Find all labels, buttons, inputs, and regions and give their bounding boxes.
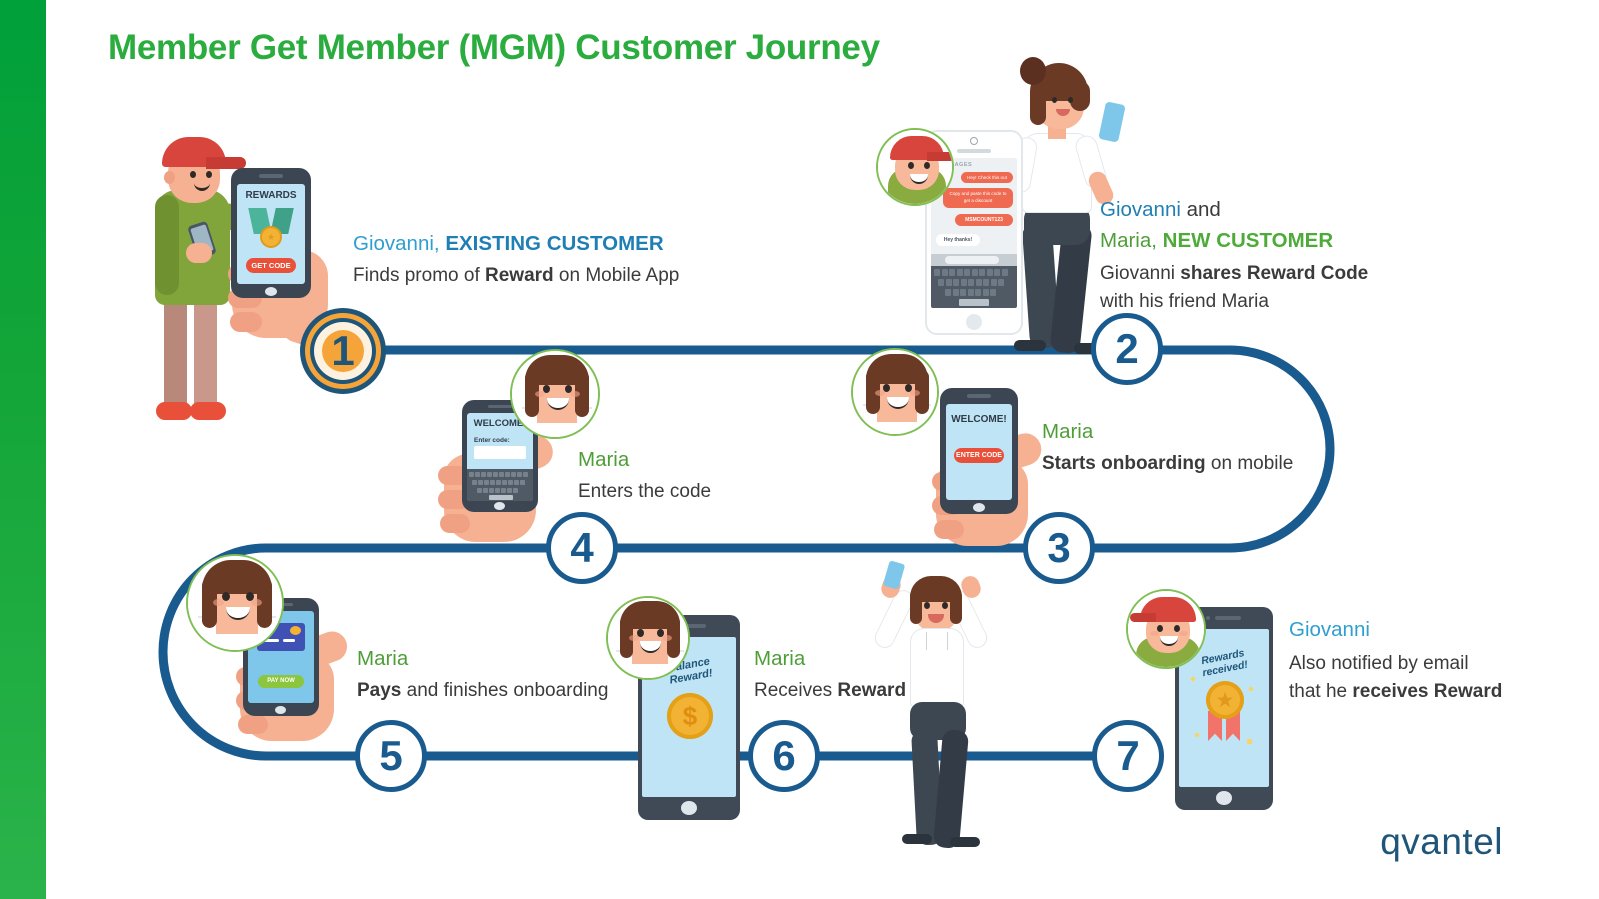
phone3-header: WELCOME! — [946, 414, 1012, 425]
phone-screen-step1: REWARDS ★ GET CODE — [231, 168, 311, 298]
infographic-canvas: Member Get Member (MGM) Customer Journey — [0, 0, 1599, 899]
phone1-header: REWARDS — [237, 190, 305, 201]
step5-desc-bold: Pays — [357, 680, 401, 701]
step-2-text: Giovanni and Maria, NEW CUSTOMER Giovann… — [1100, 196, 1368, 314]
message-bubble-code: MSMCOUNT123 — [955, 214, 1013, 226]
maria-celebrating-character — [880, 562, 1005, 847]
step5-desc-post: and finishes onboarding — [401, 680, 608, 701]
step-1-text: Giovanni, EXISTING CUSTOMER Finds promo … — [353, 230, 679, 289]
step-number-4: 4 — [570, 527, 593, 569]
step2-heading-role: NEW CUSTOMER — [1163, 229, 1333, 252]
keyboard-spacebar[interactable] — [489, 495, 513, 500]
phone1-get-code-button[interactable]: GET CODE — [246, 258, 296, 273]
step1-desc-post: on Mobile App — [554, 265, 680, 286]
step-number-2: 2 — [1115, 328, 1138, 370]
phone3-enter-code-button[interactable]: ENTER CODE — [954, 448, 1004, 463]
step2-desc-pre: Giovanni — [1100, 263, 1180, 284]
avatar-giovanni-step2 — [876, 128, 954, 206]
message-bubble: Hey! Check this out — [961, 172, 1013, 183]
qvantel-logo: qvantel — [1380, 821, 1503, 863]
step1-desc-pre: Finds promo of — [353, 265, 485, 286]
message-input[interactable] — [945, 256, 999, 264]
phone-screen-step3: WELCOME! ENTER CODE — [940, 388, 1018, 514]
keyboard-row[interactable] — [945, 289, 996, 296]
step4-desc: Enters the code — [578, 479, 711, 504]
step3-desc-post: on mobile — [1206, 453, 1294, 474]
step6-desc-pre: Receives — [754, 680, 837, 701]
coin-dollar-symbol: $ — [667, 693, 713, 739]
step7-desc-line2-pre: that he — [1289, 681, 1352, 702]
left-accent-bar — [0, 0, 46, 899]
message-bubble: Copy and paste this code to get a discou… — [943, 188, 1013, 208]
step3-desc-bold: Starts onboarding — [1042, 453, 1206, 474]
step7-desc-line1: Also notified by email — [1289, 651, 1502, 676]
step3-heading-name: Maria — [1042, 418, 1293, 445]
keyboard-row[interactable] — [469, 472, 528, 477]
keyboard-row[interactable] — [934, 269, 1008, 276]
step-number-6: 6 — [772, 735, 795, 777]
step-marker-4[interactable]: 4 — [546, 512, 618, 584]
step-6-text: Maria Receives Reward — [754, 645, 906, 704]
step5-heading-name: Maria — [357, 645, 608, 672]
step-marker-6[interactable]: 6 — [748, 720, 820, 792]
keyboard-spacebar[interactable] — [959, 299, 989, 306]
keyboard-row[interactable] — [938, 279, 1004, 286]
step-number-3: 3 — [1047, 527, 1070, 569]
step-marker-7[interactable]: 7 — [1092, 720, 1164, 792]
step1-heading-name: Giovanni, — [353, 232, 440, 255]
keyboard-row[interactable] — [477, 488, 518, 493]
step2-heading-name1: Giovanni — [1100, 198, 1181, 221]
step-number-1: 1 — [331, 330, 354, 372]
step7-heading-name: Giovanni — [1289, 616, 1502, 643]
keyboard-row[interactable] — [472, 480, 525, 485]
step1-heading-role: EXISTING CUSTOMER — [445, 232, 663, 255]
step7-desc-line2-bold: receives Reward — [1352, 681, 1502, 702]
step-number-7: 7 — [1116, 735, 1139, 777]
phone4-code-input[interactable] — [474, 446, 526, 459]
avatar-maria-step4 — [510, 349, 600, 439]
step6-heading-name: Maria — [754, 645, 906, 672]
step-marker-1[interactable]: 1 — [305, 313, 381, 389]
step2-heading-rest1: and — [1181, 198, 1221, 221]
avatar-giovanni-step7 — [1126, 589, 1206, 669]
avatar-maria-step6 — [606, 596, 690, 680]
page-title: Member Get Member (MGM) Customer Journey — [108, 28, 880, 68]
step-number-5: 5 — [379, 735, 402, 777]
phone4-enter-code-label: Enter code: — [474, 437, 510, 444]
step-marker-3[interactable]: 3 — [1023, 512, 1095, 584]
avatar-maria-step5 — [186, 554, 284, 652]
step-5-text: Maria Pays and finishes onboarding — [357, 645, 608, 704]
step2-desc-bold: shares Reward Code — [1180, 263, 1368, 284]
step-4-text: Maria Enters the code — [578, 446, 711, 505]
step1-desc-bold: Reward — [485, 265, 554, 286]
step6-desc-bold: Reward — [837, 680, 906, 701]
step-7-text: Giovanni Also notified by email that he … — [1289, 616, 1502, 704]
step-marker-5[interactable]: 5 — [355, 720, 427, 792]
message-bubble-reply: Hey thanks! — [936, 234, 980, 246]
gold-coin-icon: $ — [667, 693, 713, 739]
phone5-pay-now-button[interactable]: PAY NOW — [258, 675, 304, 688]
step4-heading-name: Maria — [578, 446, 711, 473]
medal-icon: ★ — [249, 208, 293, 252]
step-3-text: Maria Starts onboarding on mobile — [1042, 418, 1293, 477]
award-medal-icon: ★ — [1204, 681, 1246, 743]
step2-desc-line2: with his friend Maria — [1100, 289, 1368, 314]
avatar-maria-step3 — [851, 348, 939, 436]
step-marker-2[interactable]: 2 — [1091, 313, 1163, 385]
step2-heading-name2: Maria, — [1100, 229, 1157, 252]
